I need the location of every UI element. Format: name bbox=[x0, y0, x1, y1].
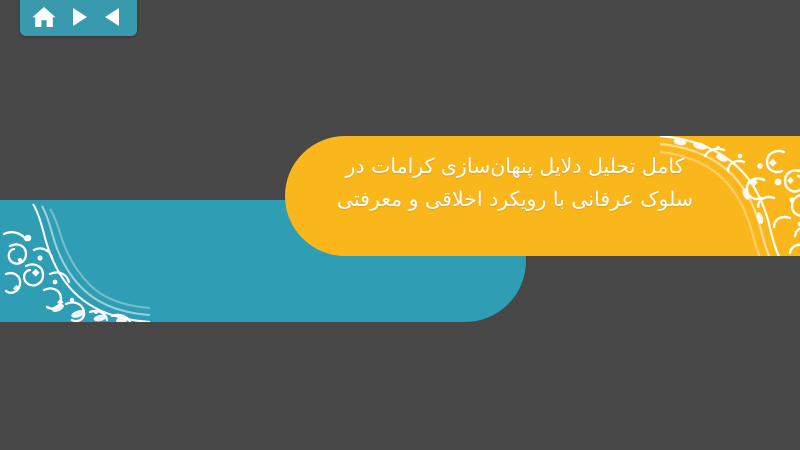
arabesque-ornament-teal bbox=[0, 200, 150, 322]
next-arrow-icon bbox=[68, 7, 90, 27]
navigation-bar[interactable] bbox=[20, 0, 137, 36]
slide-title: کامل تحلیل دلایل پنهان‌سازی کرامات در سل… bbox=[315, 150, 715, 216]
title-line-1: کامل تحلیل دلایل پنهان‌سازی کرامات در bbox=[315, 150, 715, 183]
slide-canvas: کامل تحلیل دلایل پنهان‌سازی کرامات در سل… bbox=[0, 0, 800, 450]
home-button[interactable] bbox=[29, 4, 59, 30]
next-button[interactable] bbox=[64, 4, 94, 30]
previous-arrow-icon bbox=[102, 7, 124, 27]
previous-button[interactable] bbox=[98, 4, 128, 30]
home-icon bbox=[31, 5, 57, 29]
title-line-2: سلوک عرفانی با رویکرد اخلاقی و معرفتی bbox=[315, 183, 715, 216]
